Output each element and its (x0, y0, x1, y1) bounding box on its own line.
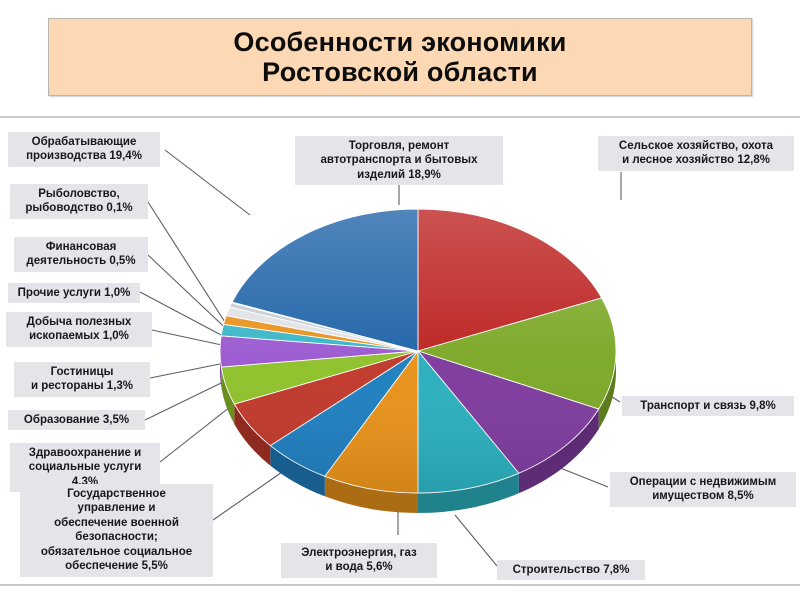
divider-top (0, 116, 800, 118)
pie-slices (220, 209, 616, 493)
label-mining[interactable]: Добыча полезных ископаемых 1,0% (6, 312, 152, 347)
label-transport[interactable]: Транспорт и связь 9,8% (622, 396, 794, 416)
label-education[interactable]: Образование 3,5% (8, 410, 145, 430)
pie-chart (218, 186, 628, 516)
pie-svg (218, 186, 628, 516)
label-fishing[interactable]: Рыболовство, рыбоводство 0,1% (10, 184, 148, 219)
slide-canvas: Особенности экономики Ростовской области (0, 0, 800, 600)
label-other-services[interactable]: Прочие услуги 1,0% (8, 283, 140, 303)
label-agriculture[interactable]: Сельское хозяйство, охота и лесное хозяй… (598, 136, 794, 171)
label-trade[interactable]: Торговля, ремонт автотранспорта и бытовы… (295, 136, 503, 185)
divider-bottom (0, 584, 800, 586)
label-finance[interactable]: Финансовая деятельность 0,5% (14, 237, 148, 272)
label-manufacturing[interactable]: Обрабатывающие производства 19,4% (8, 132, 160, 167)
page-title: Особенности экономики Ростовской области (233, 27, 566, 87)
label-realestate[interactable]: Операции с недвижимым имуществом 8,5% (610, 472, 796, 507)
label-energy[interactable]: Электроэнергия, газ и вода 5,6% (281, 543, 437, 578)
label-government[interactable]: Государственное управление и обеспечение… (20, 484, 213, 577)
title-banner: Особенности экономики Ростовской области (48, 18, 752, 96)
label-construction[interactable]: Строительство 7,8% (497, 560, 645, 580)
label-hotels[interactable]: Гостиницы и рестораны 1,3% (14, 362, 150, 397)
